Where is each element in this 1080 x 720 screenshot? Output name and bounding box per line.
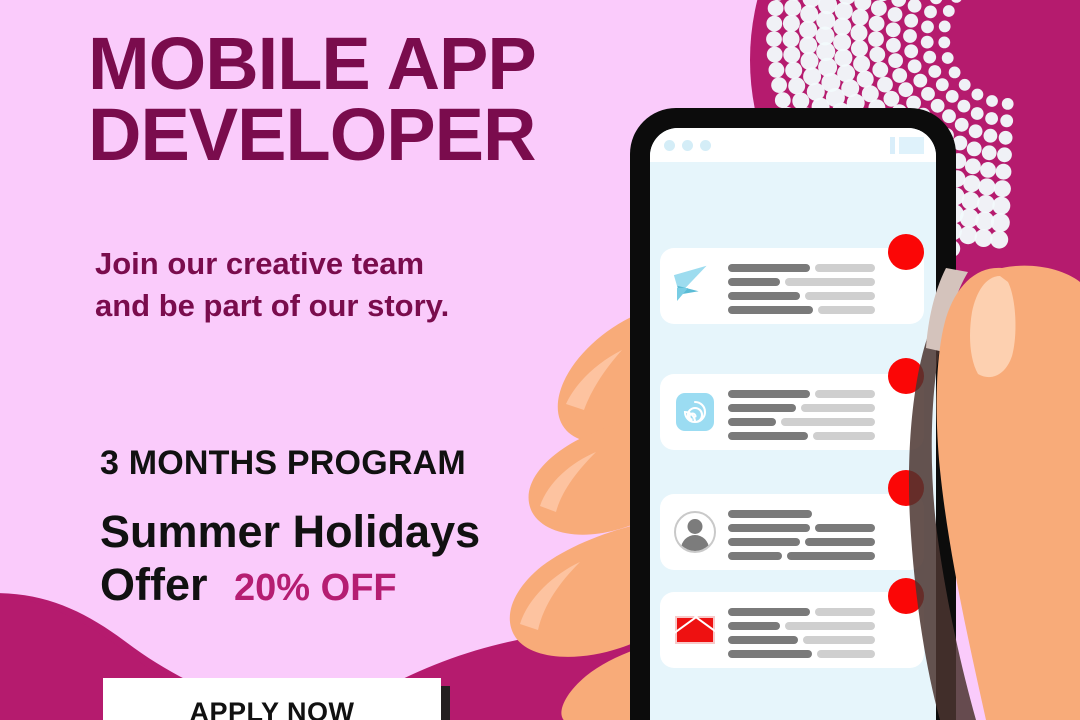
subheadline-line-1: Join our creative team	[95, 243, 615, 285]
headline-line-2: DEVELOPER	[88, 99, 648, 170]
text-content: MOBILE APP DEVELOPER Join our creative t…	[0, 0, 640, 720]
offer-block: Summer Holidays Offer 20% OFF	[100, 505, 620, 611]
discount-badge: 20% OFF	[234, 567, 397, 609]
program-duration-label: 3 MONTHS PROGRAM	[100, 444, 466, 483]
subheadline: Join our creative team and be part of ou…	[95, 243, 615, 327]
page-title: MOBILE APP DEVELOPER	[88, 28, 648, 170]
subheadline-line-2: and be part of our story.	[95, 285, 615, 327]
apply-now-button-label: APPLY NOW	[189, 697, 354, 720]
offer-line-2: Offer	[100, 559, 208, 610]
apply-now-button[interactable]: APPLY NOW	[103, 678, 441, 720]
offer-line-1: Summer Holidays	[100, 505, 620, 558]
poster-canvas: MOBILE APP DEVELOPER Join our creative t…	[0, 0, 1080, 720]
